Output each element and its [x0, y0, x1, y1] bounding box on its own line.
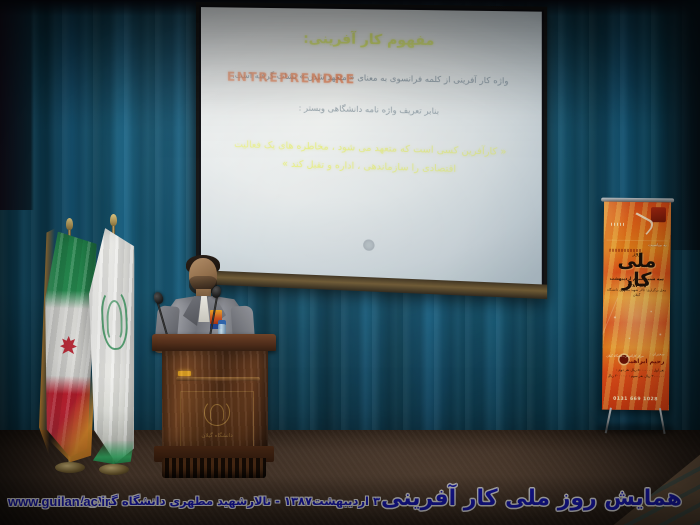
- banner-dot-decoration: [611, 223, 625, 226]
- podium-trim-rail: [176, 377, 260, 381]
- slide-english-term: ENTREPRENDRE: [227, 70, 356, 87]
- flag-finial-icon: [66, 218, 73, 230]
- banner-subtitle: به مناسبت: [608, 242, 667, 248]
- caption-url[interactable]: www.guilan.ac.ir: [8, 494, 110, 509]
- screen-center-mark: [363, 239, 374, 251]
- rollup-banner: به مناسبت روز ملی کار سه شنبه سوم اردیبه…: [602, 202, 671, 411]
- podium-indicator-light: [178, 371, 191, 376]
- caption-subtitle: ۳ اردیبهشت۱۳۸۷ - تالارشهید مطهری دانشگاه…: [80, 494, 380, 508]
- caption-overlay: همایش روز ملی کار آفرینی ۳ اردیبهشت۱۳۸۷ …: [0, 465, 700, 525]
- caption-title: همایش روز ملی کار آفرینی: [381, 486, 682, 511]
- banner-prize-list: نفر اول : ۵۰۰۰۰۰۰ ریال نفر دوم : ۳۰۰۰۰۰۰…: [605, 367, 664, 381]
- podium-top-surface: [152, 334, 276, 351]
- banner-organizer: مرکز کارآفرینی دانشگاه گیلان: [606, 354, 643, 359]
- banner-midsection-dots: [602, 302, 670, 355]
- banner-speaker-label: سخنران :: [650, 352, 664, 356]
- flag-finial-icon-2: [110, 214, 117, 226]
- podium-crest-icon: [204, 400, 230, 426]
- presentation-slide: مفهوم کار آفرینی: ENTREPRENDRE واژه کار …: [201, 7, 542, 284]
- podium-body: دانشگاه گیلان: [162, 351, 268, 449]
- projection-screen-surface: مفهوم کار آفرینی: ENTREPRENDRE واژه کار …: [201, 7, 542, 284]
- banner-face: به مناسبت روز ملی کار سه شنبه سوم اردیبه…: [602, 202, 671, 411]
- slide-quote: « کارآفرین کسی است که متعهد می شود ، مخا…: [223, 136, 518, 181]
- wall-shadow-left: [0, 0, 34, 210]
- slide-paragraph-1: واژه کار آفرینی از کلمه فرانسوی به معنای…: [223, 68, 518, 90]
- projection-screen: مفهوم کار آفرینی: ENTREPRENDRE واژه کار …: [196, 2, 547, 299]
- banner-logo-icon: [651, 207, 666, 222]
- podium-crest-inner-icon: [210, 404, 224, 422]
- podium: دانشگاه گیلان: [158, 334, 270, 476]
- banner-contact-number: 0131 669 1028: [605, 397, 666, 403]
- slide-title: مفهوم کار آفرینی:: [223, 29, 518, 50]
- slide-paragraph-2: بنابر تعریف واژه نامه دانشگاهی وبستر :: [223, 99, 518, 121]
- university-emblem-inner-icon: [106, 300, 123, 340]
- photograph-scene: مفهوم کار آفرینی: ENTREPRENDRE واژه کار …: [0, 0, 700, 525]
- podium-crest-label: دانشگاه گیلان: [181, 432, 253, 440]
- banner-footer: سخنران : رحیم ابراهیمی نفر اول : ۵۰۰۰۰۰۰…: [605, 352, 667, 407]
- banner-header: [607, 205, 668, 242]
